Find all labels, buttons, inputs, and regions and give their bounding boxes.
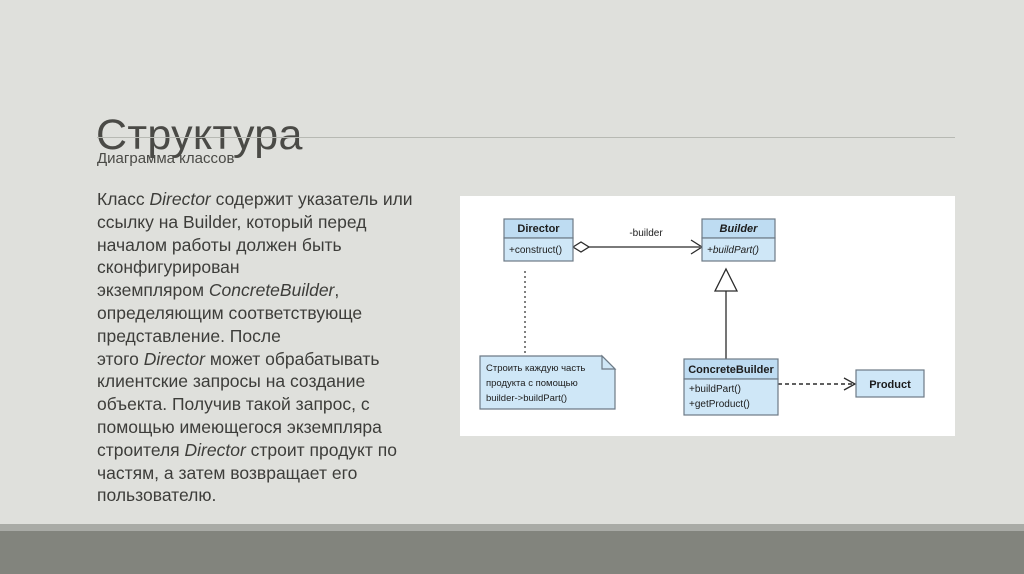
class-member-director-0: +construct() (509, 245, 562, 256)
note-line-1: продукта с помощью (486, 378, 578, 389)
note-line-0: Строить каждую часть (486, 363, 585, 374)
aggregation-diamond-icon (573, 242, 589, 252)
class-name-director: Director (517, 223, 560, 235)
relation-concretebuilder-builder (715, 269, 737, 359)
class-member-concrete-builder-0: +buildPart() (689, 384, 741, 395)
footer-bar (0, 531, 1024, 574)
class-member-builder-0: +buildPart() (707, 245, 759, 256)
relation-label-builder: -builder (629, 228, 663, 239)
body-text: экземпляром (97, 280, 209, 300)
body-text: Класс (97, 189, 150, 209)
footer-strip (0, 524, 1024, 531)
body-paragraph: Класс Director содержит указатель или сс… (97, 188, 437, 279)
uml-class-diagram: -builder Director +construct() (460, 196, 955, 436)
class-diagram-panel: -builder Director +construct() (460, 196, 955, 436)
class-box-director[interactable]: Director +construct() (504, 219, 573, 261)
note-box[interactable]: Строить каждую часть продукта с помощью … (480, 356, 615, 409)
class-member-concrete-builder-1: +getProduct() (689, 399, 750, 410)
note-fold-icon (602, 356, 615, 369)
class-name-builder: Builder (720, 223, 759, 235)
body-term: Director (150, 189, 211, 209)
body-term: ConcreteBuilder (209, 280, 334, 300)
class-box-concrete-builder[interactable]: ConcreteBuilder +buildPart() +getProduct… (684, 359, 778, 415)
class-name-product: Product (869, 379, 911, 391)
generalization-triangle-icon (715, 269, 737, 291)
body-copy: Класс Director содержит указатель или сс… (97, 188, 437, 507)
body-paragraph: экземпляром ConcreteBuilder, определяющи… (97, 279, 437, 347)
class-box-builder[interactable]: Builder +buildPart() (702, 219, 775, 261)
slide: Структура Диаграмма классов Класс Direct… (0, 0, 1024, 574)
page-subtitle: Диаграмма классов (97, 150, 234, 167)
class-name-concrete-builder: ConcreteBuilder (688, 364, 774, 376)
relation-concretebuilder-product (778, 378, 855, 390)
body-paragraph: этого Director может обрабатывать клиент… (97, 348, 437, 508)
title-divider (97, 137, 955, 138)
class-box-product[interactable]: Product (856, 370, 924, 397)
body-text: этого (97, 349, 144, 369)
relation-director-builder: -builder (573, 228, 702, 254)
body-term: Director (185, 440, 246, 460)
body-term: Director (144, 349, 205, 369)
note-line-2: builder->buildPart() (486, 393, 567, 404)
